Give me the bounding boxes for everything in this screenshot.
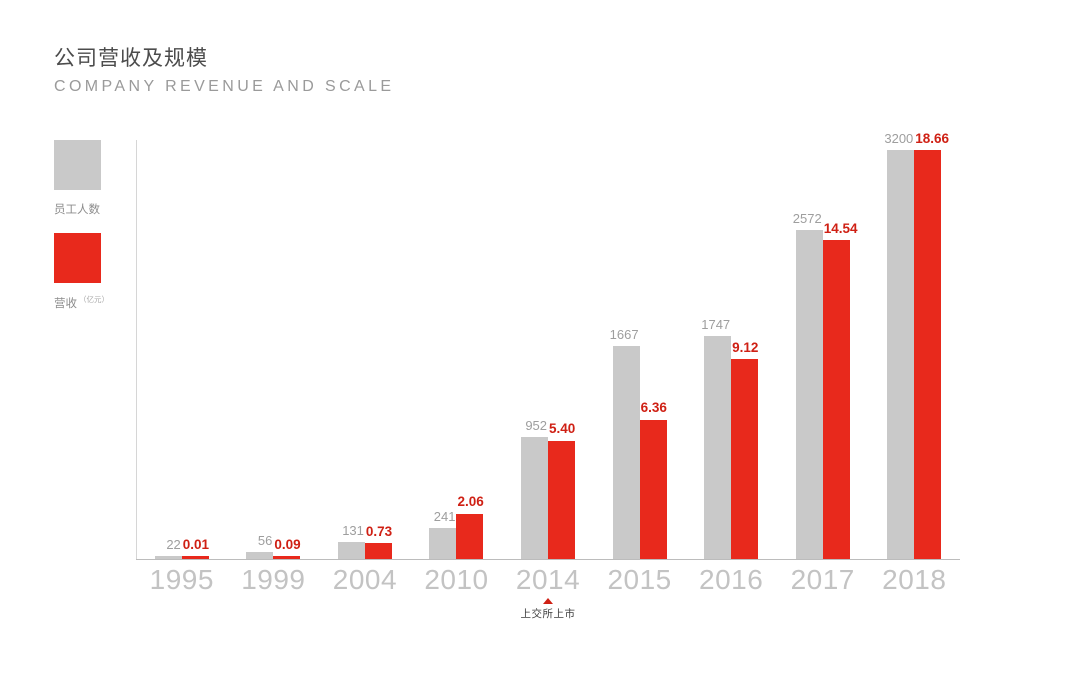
bar-group: 560.09 xyxy=(228,140,320,559)
bar-rect-revenue[interactable] xyxy=(640,420,667,559)
ipo-annotation-text: 上交所上市 xyxy=(502,606,594,621)
bar-rect-employees[interactable] xyxy=(613,346,640,559)
bar-revenue[interactable]: 0.09 xyxy=(273,556,300,559)
bar-group: 2412.06 xyxy=(411,140,503,559)
bar-rect-employees[interactable] xyxy=(338,542,365,559)
legend-item-revenue: 营收（亿元） xyxy=(54,233,128,311)
legend-unit-revenue: （亿元） xyxy=(79,295,109,304)
bar-value-employees: 1667 xyxy=(610,328,639,341)
chart-header: 公司营收及规模 COMPANY REVENUE AND SCALE xyxy=(54,46,394,96)
bar-group: 1310.73 xyxy=(319,140,411,559)
x-axis-label-2016: 2016 xyxy=(685,566,777,594)
legend-label-revenue: 营收（亿元） xyxy=(54,294,128,311)
page-title: 公司营收及规模 xyxy=(54,46,394,72)
legend-swatch-revenue xyxy=(54,233,101,283)
bar-rect-revenue[interactable] xyxy=(914,150,941,559)
bar-revenue[interactable]: 0.01 xyxy=(182,556,209,559)
bar-rect-revenue[interactable] xyxy=(456,514,483,559)
bar-rect-employees[interactable] xyxy=(796,230,823,559)
bar-rect-employees[interactable] xyxy=(521,437,548,559)
bar-groups: 220.01560.091310.732412.069525.4016676.3… xyxy=(136,140,960,559)
bar-group: 220.01 xyxy=(136,140,228,559)
bar-employees[interactable]: 22 xyxy=(155,556,182,559)
bar-employees[interactable]: 1667 xyxy=(613,346,640,559)
x-axis-label-cell: 2017 xyxy=(777,566,869,636)
bar-value-employees: 22 xyxy=(166,538,180,551)
bar-group: 16676.36 xyxy=(594,140,686,559)
chart-legend: 员工人数 营收（亿元） xyxy=(54,140,128,327)
bar-pair: 220.01 xyxy=(155,556,209,559)
bar-revenue[interactable]: 5.40 xyxy=(548,441,575,559)
legend-label-employees-text: 员工人数 xyxy=(54,204,100,216)
bar-rect-revenue[interactable] xyxy=(182,556,209,559)
bar-value-revenue: 2.06 xyxy=(457,495,483,509)
x-axis-label-cell: 2015 xyxy=(594,566,686,636)
x-axis-label-cell: 2004 xyxy=(319,566,411,636)
x-axis-label-2010: 2010 xyxy=(411,566,503,594)
bar-rect-revenue[interactable] xyxy=(823,240,850,559)
x-axis-labels: 19951999200420102014上交所上市201520162017201… xyxy=(136,566,960,636)
ipo-annotation: 上交所上市 xyxy=(502,598,594,621)
bar-employees[interactable]: 241 xyxy=(429,528,456,559)
bar-group: 320018.66 xyxy=(869,140,961,559)
bar-pair: 17479.12 xyxy=(704,336,758,559)
bar-rect-employees[interactable] xyxy=(246,552,273,559)
x-axis-label-2004: 2004 xyxy=(319,566,411,594)
bar-pair: 1310.73 xyxy=(338,542,392,559)
bar-rect-employees[interactable] xyxy=(155,556,182,559)
bar-rect-employees[interactable] xyxy=(429,528,456,559)
bar-revenue[interactable]: 14.54 xyxy=(823,240,850,559)
bar-revenue[interactable]: 6.36 xyxy=(640,420,667,559)
x-axis-line xyxy=(136,559,960,560)
bar-rect-revenue[interactable] xyxy=(273,556,300,559)
legend-label-revenue-text: 营收 xyxy=(54,298,77,310)
bar-employees[interactable]: 56 xyxy=(246,552,273,559)
page-subtitle: COMPANY REVENUE AND SCALE xyxy=(54,78,394,96)
bar-employees[interactable]: 1747 xyxy=(704,336,731,559)
x-axis-label-cell: 2010 xyxy=(411,566,503,636)
bar-group: 257214.54 xyxy=(777,140,869,559)
bar-rect-revenue[interactable] xyxy=(548,441,575,559)
bar-rect-employees[interactable] xyxy=(887,150,914,559)
bar-value-employees: 1747 xyxy=(701,318,730,331)
bar-pair: 320018.66 xyxy=(887,150,941,559)
bar-value-employees: 3200 xyxy=(884,132,913,145)
bar-value-revenue: 0.73 xyxy=(366,525,392,539)
bar-value-revenue: 5.40 xyxy=(549,422,575,436)
bar-rect-revenue[interactable] xyxy=(731,359,758,559)
bar-employees[interactable]: 3200 xyxy=(887,150,914,559)
bar-value-employees: 56 xyxy=(258,534,272,547)
x-axis-label-cell: 2018 xyxy=(869,566,961,636)
bar-revenue[interactable]: 0.73 xyxy=(365,543,392,559)
bar-rect-employees[interactable] xyxy=(704,336,731,559)
bar-employees[interactable]: 2572 xyxy=(796,230,823,559)
bar-value-employees: 131 xyxy=(342,524,364,537)
bar-group: 17479.12 xyxy=(685,140,777,559)
legend-item-employees: 员工人数 xyxy=(54,140,128,217)
bar-employees[interactable]: 952 xyxy=(521,437,548,559)
bar-employees[interactable]: 131 xyxy=(338,542,365,559)
x-axis-label-2015: 2015 xyxy=(594,566,686,594)
bar-value-revenue: 6.36 xyxy=(641,401,667,415)
bar-revenue[interactable]: 2.06 xyxy=(456,514,483,559)
bar-value-revenue: 18.66 xyxy=(915,132,949,146)
bar-rect-revenue[interactable] xyxy=(365,543,392,559)
x-axis-label-1995: 1995 xyxy=(136,566,228,594)
x-axis-label-cell: 1999 xyxy=(228,566,320,636)
bar-pair: 2412.06 xyxy=(429,514,483,559)
bar-value-employees: 2572 xyxy=(793,212,822,225)
x-axis-label-2018: 2018 xyxy=(869,566,961,594)
bar-revenue[interactable]: 9.12 xyxy=(731,359,758,559)
bar-pair: 9525.40 xyxy=(521,437,575,559)
bar-pair: 257214.54 xyxy=(796,230,850,559)
bar-value-employees: 952 xyxy=(525,419,547,432)
x-axis-label-cell: 2014上交所上市 xyxy=(502,566,594,636)
bar-value-revenue: 0.09 xyxy=(274,538,300,552)
bar-value-revenue: 14.54 xyxy=(824,222,858,236)
bar-revenue[interactable]: 18.66 xyxy=(914,150,941,559)
legend-label-employees: 员工人数 xyxy=(54,201,128,217)
x-axis-label-2014: 2014 xyxy=(502,566,594,594)
bar-group: 9525.40 xyxy=(502,140,594,559)
x-axis-label-2017: 2017 xyxy=(777,566,869,594)
bar-value-employees: 241 xyxy=(434,510,456,523)
x-axis-label-cell: 1995 xyxy=(136,566,228,636)
x-axis-label-cell: 2016 xyxy=(685,566,777,636)
triangle-up-icon xyxy=(543,598,553,604)
legend-swatch-employees xyxy=(54,140,101,190)
chart-plot-area: 220.01560.091310.732412.069525.4016676.3… xyxy=(136,140,960,560)
bar-pair: 16676.36 xyxy=(613,346,667,559)
bar-pair: 560.09 xyxy=(246,552,300,559)
bar-value-revenue: 9.12 xyxy=(732,341,758,355)
bar-value-revenue: 0.01 xyxy=(183,538,209,552)
x-axis-label-1999: 1999 xyxy=(228,566,320,594)
